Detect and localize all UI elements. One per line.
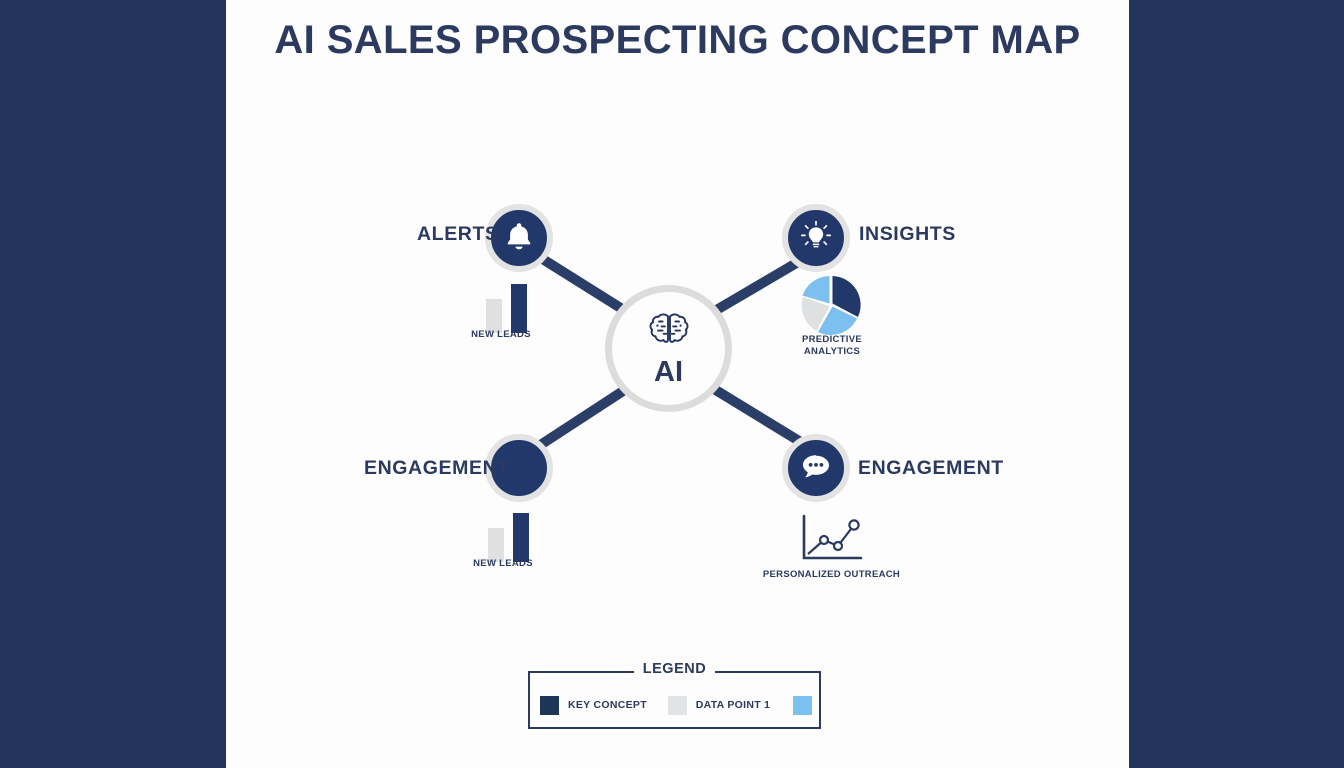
engagement-right-chart-caption: PERSONALIZED OUTREACH	[724, 569, 939, 581]
lightbulb-icon	[800, 220, 832, 257]
legend-item-data-point-1: DATA POINT 1	[668, 696, 771, 715]
center-node-label: AI	[654, 358, 683, 387]
legend-title: LEGEND	[528, 661, 821, 677]
node-engagement-right[interactable]	[782, 434, 850, 502]
legend-swatch-key-concept	[540, 696, 559, 715]
insights-pie-chart	[800, 274, 862, 341]
alerts-chart-caption: NEW LEADS	[431, 329, 571, 341]
bar-gray	[488, 528, 504, 562]
node-alerts-label: ALERTS	[417, 223, 499, 246]
left-color-band	[0, 0, 226, 768]
page-title: AI SALES PROSPECTING CONCEPT MAP	[226, 18, 1129, 63]
bar-gray	[486, 299, 502, 333]
node-engagement-right-label: ENGAGEMENT	[858, 457, 1004, 480]
bar-navy	[511, 284, 527, 333]
concept-map-canvas: AI SALES PROSPECTING CONCEPT MAP	[226, 0, 1129, 768]
bar-navy	[513, 513, 529, 562]
node-insights-label: INSIGHTS	[859, 223, 956, 246]
legend-title-text: LEGEND	[634, 661, 715, 677]
legend-item-key-concept: KEY CONCEPT	[540, 696, 647, 715]
legend-label-data-point-1: DATA POINT 1	[696, 699, 771, 711]
legend-label-key-concept: KEY CONCEPT	[568, 699, 647, 711]
legend-item-third	[793, 696, 821, 715]
legend-swatch-data-point-1	[668, 696, 687, 715]
engagement-left-chart-caption: NEW LEADS	[433, 558, 573, 570]
node-engagement-left-label: ENGAGEMENT	[364, 457, 510, 480]
node-center-ai[interactable]: AI	[605, 285, 732, 412]
right-color-band	[1129, 0, 1344, 768]
engagement-left-bar-chart	[488, 513, 529, 562]
legend-swatch-third	[793, 696, 812, 715]
chat-bubble-icon	[799, 451, 833, 486]
insights-chart-caption-line1: PREDICTIVE	[772, 334, 892, 346]
bell-icon	[505, 221, 533, 256]
insights-chart-caption-line2: ANALYTICS	[772, 346, 892, 358]
brain-icon	[646, 311, 692, 354]
legend-items: KEY CONCEPT DATA POINT 1	[528, 694, 821, 716]
screenshot-root: AI SALES PROSPECTING CONCEPT MAP	[0, 0, 1344, 768]
alerts-bar-chart	[486, 284, 527, 333]
node-insights[interactable]	[782, 204, 850, 272]
engagement-right-line-chart	[799, 513, 863, 568]
